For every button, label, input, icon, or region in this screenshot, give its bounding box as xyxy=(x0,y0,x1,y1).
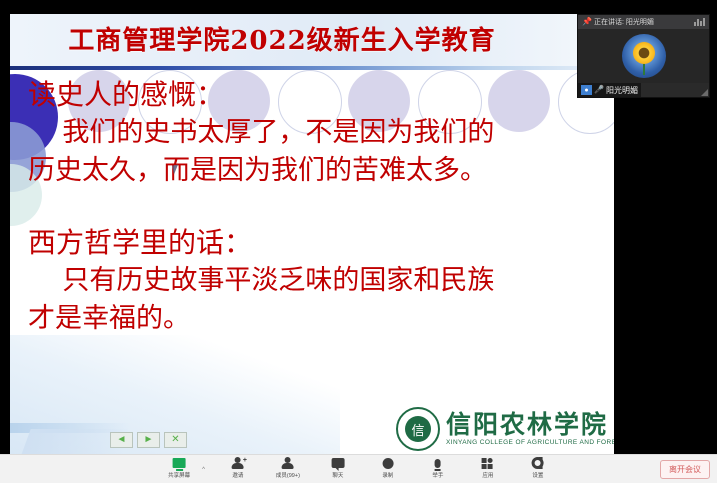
toolbar-label-record: 录制 xyxy=(382,471,393,479)
sunflower-avatar xyxy=(622,34,666,78)
slide-body-line: 历史太久，而是因为我们的苦难太多。 xyxy=(28,152,606,190)
presentation-slide[interactable]: 工商管理学院2022级新生入学教育 读史人的感慨： 我们的史书太厚了，不是因为我… xyxy=(10,14,614,455)
university-name-en: XINYANG COLLEGE OF AGRICULTURE AND FORES… xyxy=(446,440,614,447)
raise-hand-icon xyxy=(435,456,441,470)
university-logo: 信 信阳农林学院 XINYANG COLLEGE OF AGRICULTURE … xyxy=(396,403,610,455)
chat-icon xyxy=(331,456,344,470)
toolbar-button-share-screen[interactable]: 共享屏幕 xyxy=(162,456,196,479)
toolbar-label-raise-hand: 举手 xyxy=(432,471,443,479)
share-screen-icon xyxy=(173,456,186,470)
thumbnail-resize-handle[interactable] xyxy=(701,89,708,96)
toolbar-label-settings: 设置 xyxy=(532,471,543,479)
invite-icon: + xyxy=(231,456,245,470)
toolbar-label-chat: 聊天 xyxy=(332,471,343,479)
slide-title: 工商管理学院2022级新生入学教育 xyxy=(10,20,614,57)
apps-grid-icon xyxy=(482,456,494,470)
toolbar-button-participants[interactable]: 成员(99+) xyxy=(271,456,305,479)
toolbar-button-apps[interactable]: 应用 xyxy=(471,456,505,479)
thumbnail-footer: ● 🎤 阳光明媚 xyxy=(578,83,641,97)
thumbnail-titlebar: 📌 正在讲话: 阳光明媚 xyxy=(578,15,709,29)
toolbar-button-raise-hand[interactable]: 举手 xyxy=(421,456,455,479)
pin-icon[interactable]: 📌 xyxy=(582,18,590,26)
chevron-up-icon[interactable]: ^ xyxy=(202,467,205,473)
settings-gear-icon xyxy=(532,456,544,470)
toolbar-label-apps: 应用 xyxy=(482,471,493,479)
meeting-toolbar: 共享屏幕 ^ + 邀请 成员(99+) 聊天 录制 xyxy=(0,454,717,483)
shared-screen-region[interactable]: 工商管理学院2022级新生入学教育 读史人的感慨： 我们的史书太厚了，不是因为我… xyxy=(10,14,614,455)
slide-next-button[interactable]: ► xyxy=(137,432,160,448)
university-seal-icon: 信 xyxy=(396,407,440,451)
slide-prev-button[interactable]: ◄ xyxy=(110,432,133,448)
mic-on-icon[interactable]: 🎤 xyxy=(594,86,604,94)
toolbar-button-invite[interactable]: + 邀请 xyxy=(221,456,255,479)
video-user-icon: ● xyxy=(581,85,592,95)
toolbar-button-settings[interactable]: 设置 xyxy=(521,456,555,479)
toolbar-items: 共享屏幕 ^ + 邀请 成员(99+) 聊天 录制 xyxy=(162,456,555,479)
slideshow-nav-controls[interactable]: ◄ ► ✕ xyxy=(110,432,187,448)
slide-body-line: 只有历史故事平淡乏味的国家和民族 xyxy=(28,262,606,300)
meeting-window: 工商管理学院2022级新生入学教育 读史人的感慨： 我们的史书太厚了，不是因为我… xyxy=(0,0,717,483)
seal-character: 信 xyxy=(405,416,431,442)
toolbar-button-chat[interactable]: 聊天 xyxy=(321,456,355,479)
slide-body-line: 读史人的感慨： xyxy=(28,76,606,114)
participant-name: 阳光明媚 xyxy=(606,85,638,96)
toolbar-label-invite: 邀请 xyxy=(232,471,243,479)
thumbnail-video-area[interactable] xyxy=(578,29,709,83)
speaking-label: 正在讲话: 阳光明媚 xyxy=(594,17,690,27)
toolbar-button-record[interactable]: 录制 xyxy=(371,456,405,479)
slide-end-button[interactable]: ✕ xyxy=(164,432,187,448)
leave-meeting-button[interactable]: 离开会议 xyxy=(660,460,710,479)
active-speaker-thumbnail[interactable]: 📌 正在讲话: 阳光明媚 ● 🎤 阳光明媚 xyxy=(577,14,710,98)
slide-body-line: 西方哲学里的话： xyxy=(28,224,606,262)
toolbar-label-participants: 成员(99+) xyxy=(276,471,300,479)
audio-wave-icon xyxy=(694,18,705,26)
slide-body-line: 我们的史书太厚了，不是因为我们的 xyxy=(28,114,606,152)
slide-body-text: 读史人的感慨： 我们的史书太厚了，不是因为我们的历史太久，而是因为我们的苦难太多… xyxy=(28,76,606,338)
participants-icon xyxy=(281,456,295,470)
slide-body-line: 才是幸福的。 xyxy=(28,300,606,338)
university-name-cn: 信阳农林学院 xyxy=(446,412,614,437)
record-icon xyxy=(382,456,393,470)
slide-body-spacer xyxy=(28,190,606,224)
avatar-flower xyxy=(633,42,655,64)
toolbar-label-share-screen: 共享屏幕 xyxy=(168,471,190,479)
